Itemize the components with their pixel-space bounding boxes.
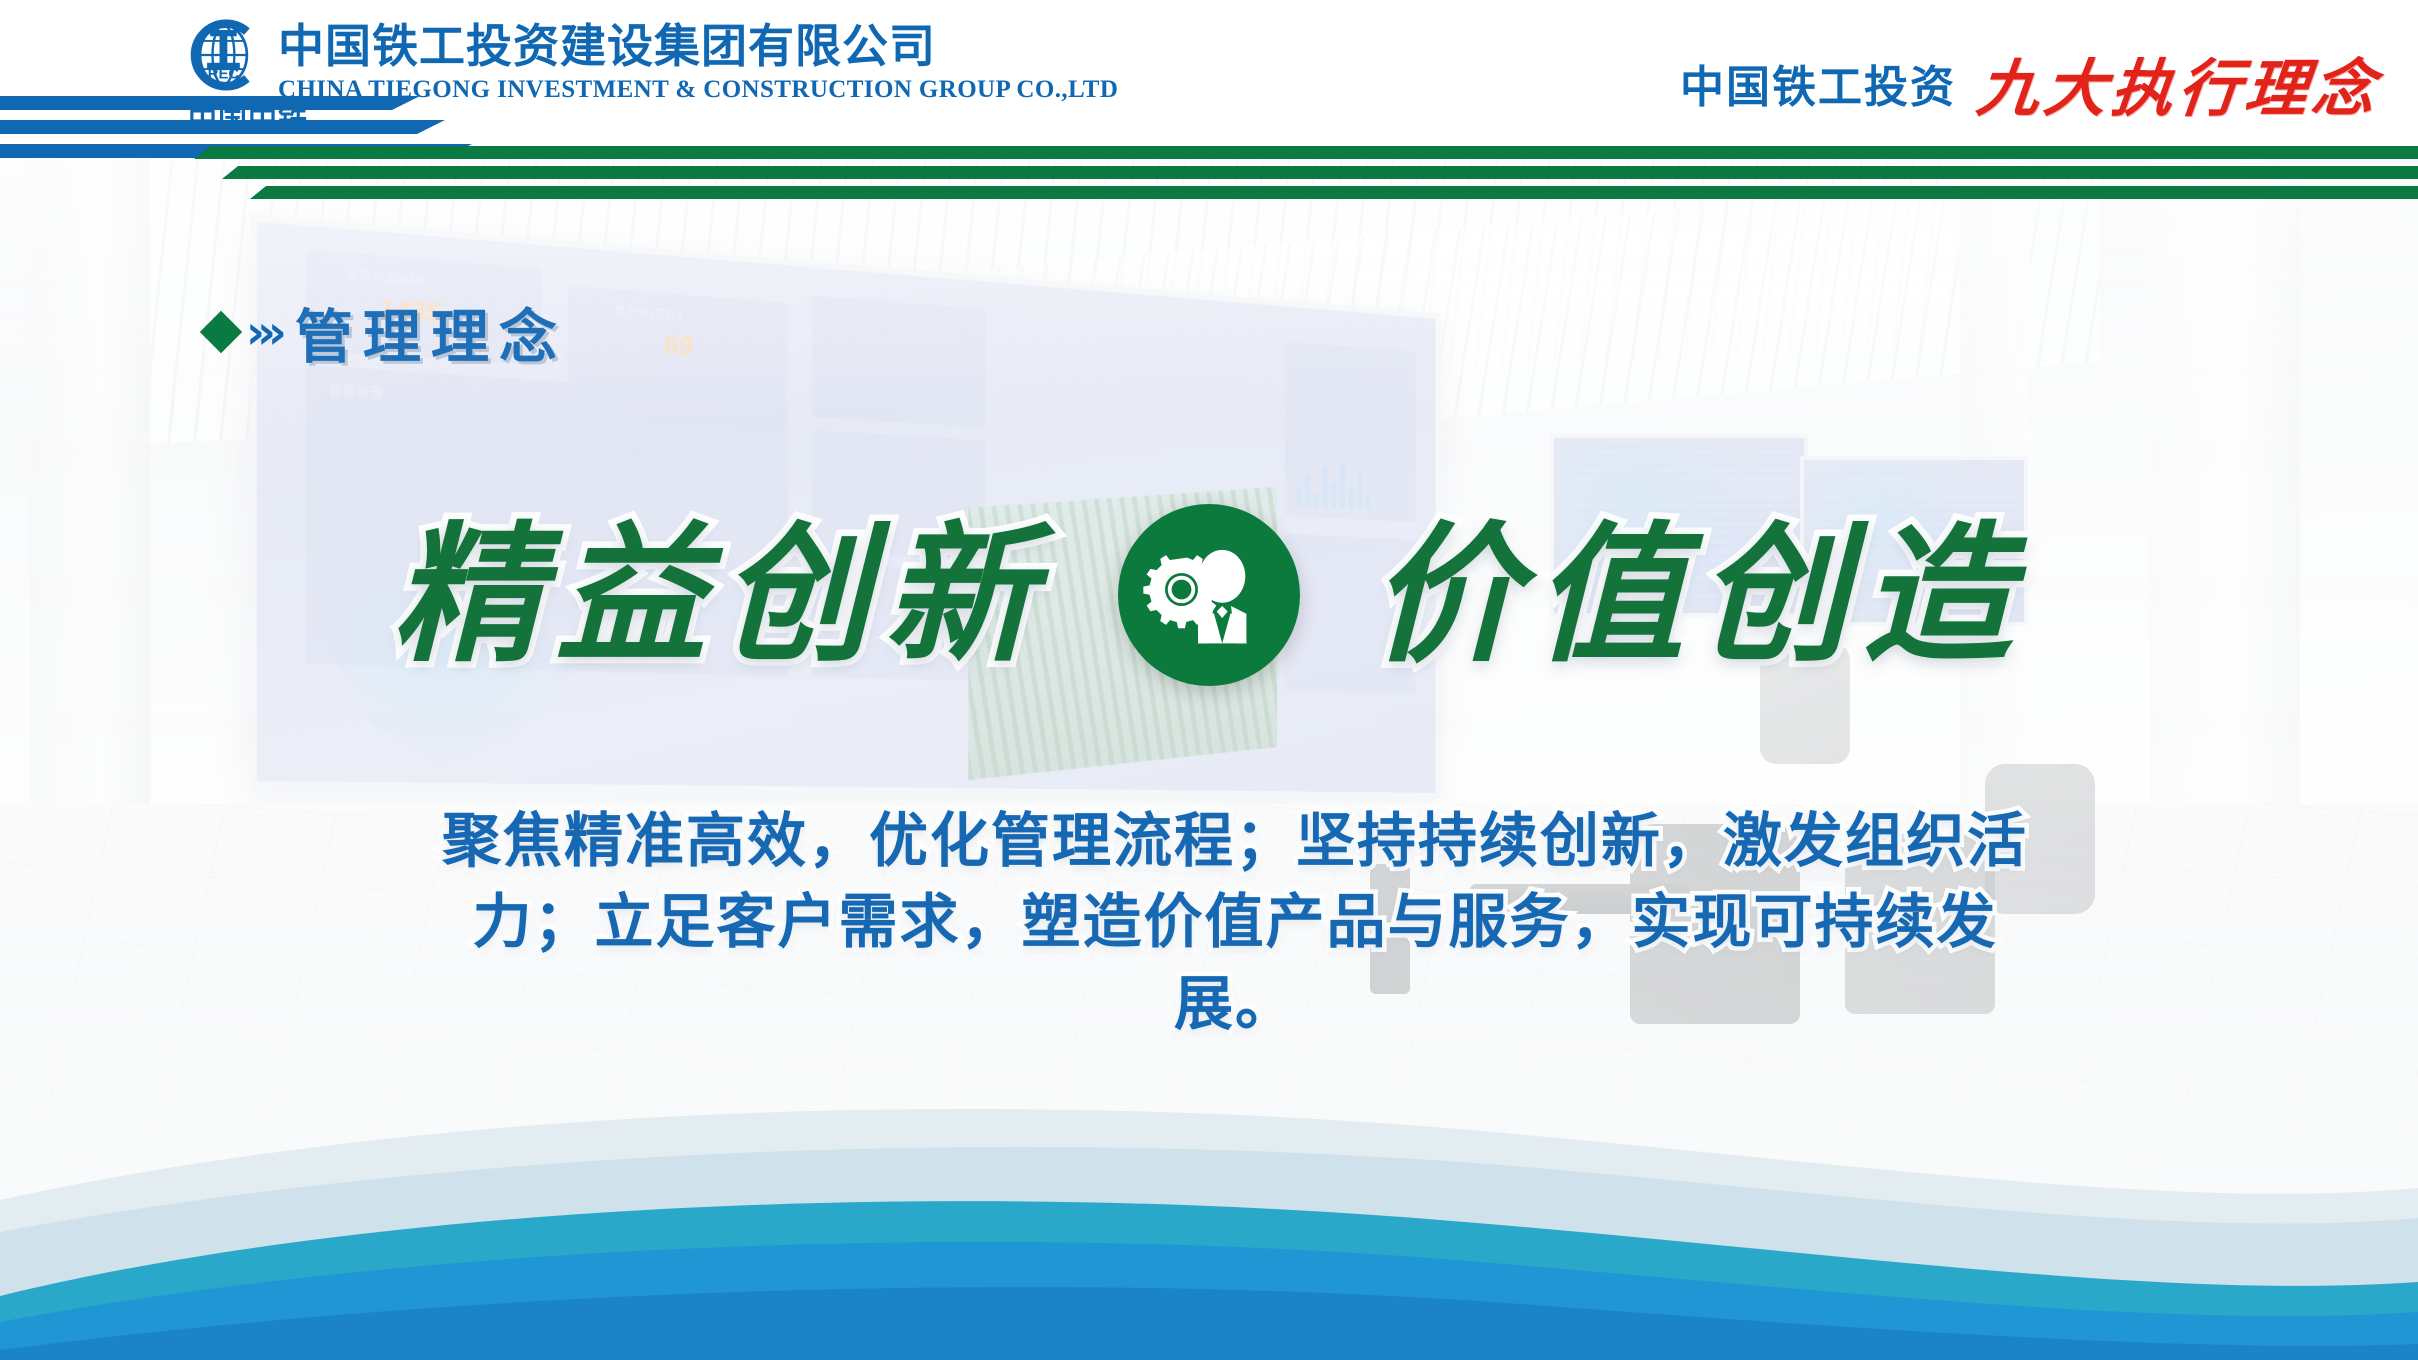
company-name-cn: 中国铁工投资建设集团有限公司 bbox=[278, 22, 1118, 70]
chevrons-icon: ››› bbox=[246, 309, 279, 355]
svg-text:REC: REC bbox=[208, 66, 240, 82]
bottom-wave-decoration bbox=[0, 1060, 2418, 1360]
slide-root: 管网长度(KM) 1435 用户数(万户) 69 管理管理 2021年1月 20… bbox=[0, 0, 2418, 1360]
green-stripe-group bbox=[0, 150, 2418, 196]
page-header: REC 中国铁工投资建设集团有限公司 CHINA TIEGONG INVESTM… bbox=[0, 0, 2418, 196]
header-right-prefix: 中国铁工投资 bbox=[1680, 51, 1956, 115]
headline-row: 精益创新 价值创造 bbox=[0, 470, 2418, 720]
headline-left: 精益创新 bbox=[392, 520, 1048, 670]
company-logo-block: REC 中国铁工投资建设集团有限公司 CHINA TIEGONG INVESTM… bbox=[186, 16, 1118, 104]
section-label: ››› 管理理念 bbox=[206, 290, 567, 374]
crec-globe-logo-icon: REC bbox=[186, 16, 264, 94]
body-paragraph: 聚焦精准高效，优化管理流程；坚持持续创新，激发组织活力；立足客户需求，塑造价值产… bbox=[440, 800, 2030, 1044]
brand-text-block: 中国铁工投资建设集团有限公司 CHINA TIEGONG INVESTMENT … bbox=[278, 16, 1118, 104]
section-title: 管理理念 bbox=[295, 290, 567, 374]
company-name-en: CHINA TIEGONG INVESTMENT & CONSTRUCTION … bbox=[278, 76, 1118, 104]
diamond-chevrons-icon: ››› bbox=[206, 309, 279, 355]
diamond-icon bbox=[200, 311, 242, 353]
gear-person-icon bbox=[1118, 504, 1300, 686]
header-right-calligraphy: 九大执行理念 bbox=[1973, 38, 2384, 128]
headline-right: 价值创造 bbox=[1370, 520, 2026, 670]
logo-caption: 中国中铁 bbox=[188, 96, 308, 138]
gear-person-glyph bbox=[1143, 529, 1275, 661]
header-right-block: 中国铁工投资 九大执行理念 bbox=[1680, 38, 2380, 128]
